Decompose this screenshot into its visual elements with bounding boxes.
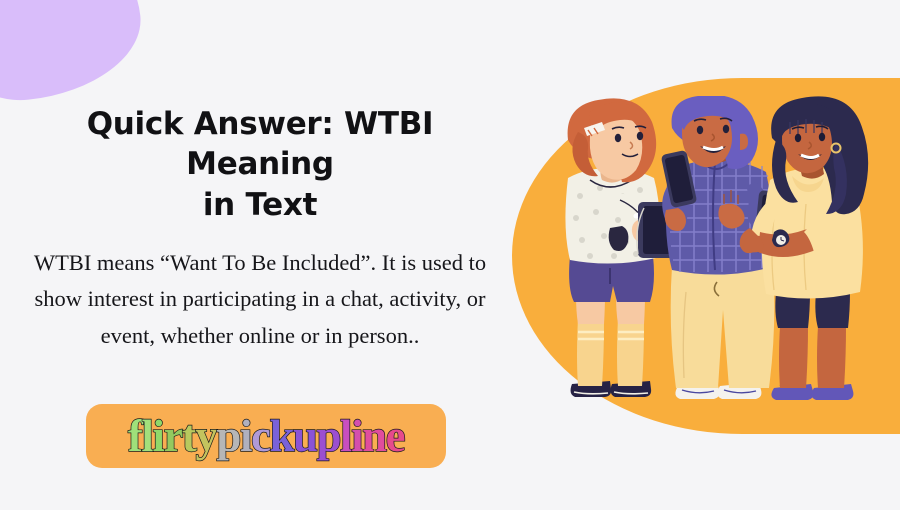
- logo-letter-14: n: [362, 414, 386, 459]
- logo-letter-13: i: [351, 414, 362, 459]
- logo-letter-7: i: [240, 414, 251, 459]
- logo-letter-11: p: [317, 414, 341, 459]
- logo-letter-9: k: [269, 414, 293, 459]
- logo-letter-1: l: [141, 414, 152, 459]
- text-column: Quick Answer: WTBI Meaning in Text WTBI …: [0, 104, 520, 354]
- logo-letter-5: y: [195, 414, 216, 459]
- purple-decorative-blob: [0, 0, 148, 108]
- poster-canvas: Quick Answer: WTBI Meaning in Text WTBI …: [0, 0, 900, 510]
- logo-letter-0: f: [128, 414, 142, 459]
- logo-letter-6: p: [216, 414, 240, 459]
- logo-letter-3: r: [163, 414, 181, 459]
- page-title: Quick Answer: WTBI Meaning in Text: [18, 104, 502, 225]
- logo-letter-10: u: [293, 414, 317, 459]
- headline-line-1: Quick Answer: WTBI Meaning: [87, 106, 434, 182]
- body-text: WTBI means “Want To Be Included”. It is …: [30, 245, 490, 354]
- logo-wordmark: flirtypickupline: [128, 414, 404, 459]
- site-logo[interactable]: flirtypickupline: [86, 404, 446, 468]
- logo-letter-8: c: [251, 414, 269, 459]
- illustration-three-friends-with-devices: [560, 96, 900, 418]
- logo-letter-2: i: [152, 414, 163, 459]
- headline-line-2: in Text: [203, 187, 317, 223]
- logo-letter-15: e: [386, 414, 404, 459]
- logo-letter-4: t: [182, 414, 196, 459]
- logo-letter-12: l: [340, 414, 351, 459]
